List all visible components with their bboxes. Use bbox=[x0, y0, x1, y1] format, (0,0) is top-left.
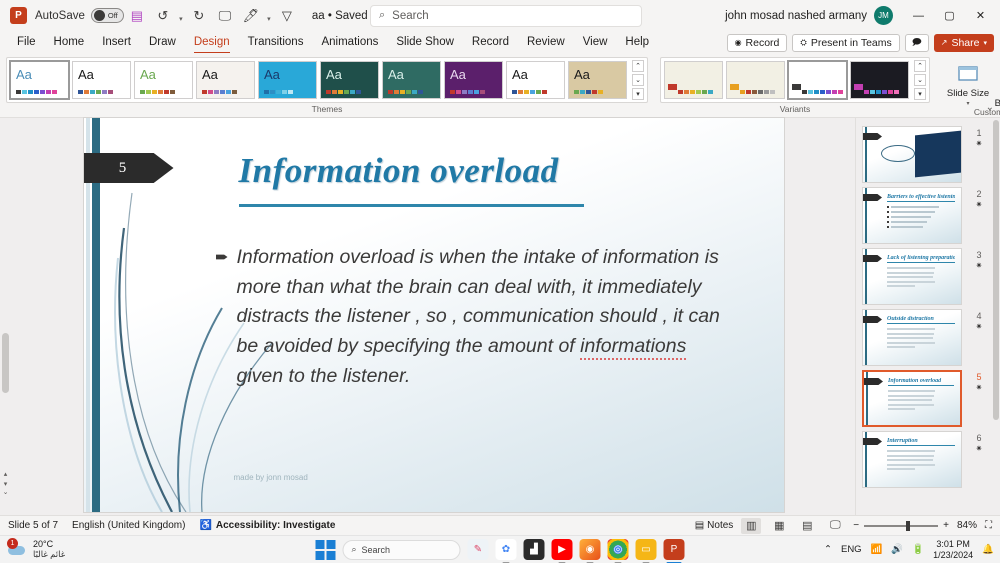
themes-more[interactable]: ▾ bbox=[632, 88, 644, 100]
theme-color-swatches bbox=[574, 90, 603, 94]
google-photos-icon[interactable]: ✿ bbox=[496, 539, 517, 560]
comments-button[interactable]: 🗩 bbox=[905, 34, 929, 52]
tab-draw[interactable]: Draw bbox=[140, 31, 185, 54]
weather-icon: 1 bbox=[6, 540, 28, 558]
firefox-icon[interactable]: ◉ bbox=[580, 539, 601, 560]
user-name: john mosad nashed armany bbox=[725, 10, 867, 22]
body-text-part2: given to the listener. bbox=[237, 365, 411, 387]
zoom-level-label[interactable]: 84% bbox=[957, 520, 977, 531]
powerpoint-window: P AutoSave Off ▤ ↺ ▾ ↻ 🖵 🖊 ▾ ▽ aa • Save… bbox=[0, 0, 1000, 563]
theme-sample-text: Aa bbox=[78, 67, 94, 82]
accessibility-label: Accessibility: Investigate bbox=[216, 520, 336, 531]
themes-gallery-scroll: ⌃⌄▾ bbox=[632, 60, 644, 100]
scroll-down-double-icon[interactable]: ⌄ bbox=[1, 488, 10, 496]
share-button[interactable]: ↗ Share ▾ bbox=[934, 34, 994, 52]
thumbnail-row[interactable]: Barriers to effective listening2✷ bbox=[856, 183, 1000, 244]
thumbnail-title: Information overload bbox=[888, 378, 954, 386]
slide-thumbnail-1[interactable] bbox=[862, 126, 962, 183]
taskbar-search-input[interactable]: ⌕ Search bbox=[343, 540, 461, 560]
slide-thumbnail-3[interactable]: Lack of listening preparation bbox=[862, 248, 962, 305]
thumbnail-dark-panel bbox=[915, 131, 961, 178]
widgets-icon[interactable]: ✎ bbox=[468, 539, 489, 560]
language-indicator[interactable]: ENG bbox=[841, 544, 862, 555]
tab-insert[interactable]: Insert bbox=[93, 31, 140, 54]
previous-slide-button[interactable]: ▴ bbox=[1, 470, 10, 478]
autosave-label: AutoSave bbox=[35, 10, 85, 22]
language-indicator[interactable]: English (United Kingdom) bbox=[72, 520, 185, 531]
search-placeholder: Search bbox=[392, 10, 428, 22]
themes-group: AaAaAaAaAaAaAaAaAaAa⌃⌄▾ Themes bbox=[6, 57, 648, 117]
theme-thumbnail-1[interactable]: Aa bbox=[10, 61, 69, 99]
clock-date: 1/23/2024 bbox=[933, 550, 973, 560]
weather-text: 20°C غائم غالبًا bbox=[33, 539, 65, 559]
variants-gallery[interactable]: ⌃⌄▾ bbox=[660, 57, 930, 103]
windows-app-icon[interactable]: ▟ bbox=[524, 539, 545, 560]
theme-sample-text: Aa bbox=[140, 67, 156, 82]
slide-size-label: Slide Size bbox=[947, 89, 989, 99]
record-dot-icon: ◉ bbox=[735, 38, 742, 47]
variant-color-swatches bbox=[864, 90, 899, 94]
zoom-in-button[interactable]: + bbox=[943, 520, 949, 531]
volume-icon[interactable]: 🔊 bbox=[891, 544, 903, 555]
comments-icon: 🗩 bbox=[912, 35, 922, 51]
slide-thumbnail-4[interactable]: Outside distraction bbox=[862, 309, 962, 366]
themes-scroll-down[interactable]: ⌄ bbox=[632, 74, 644, 86]
tab-home[interactable]: Home bbox=[45, 31, 94, 54]
notes-icon: ▤ bbox=[695, 520, 704, 531]
chrome-icon[interactable]: ◎ bbox=[608, 539, 629, 560]
system-tray: ⌃ ENG 📶 🔊 🔋 3:01 PM 1/23/2024 🔔 bbox=[824, 539, 994, 560]
theme-color-swatches bbox=[326, 90, 361, 94]
start-button-icon[interactable] bbox=[316, 540, 336, 560]
close-button[interactable]: ✕ bbox=[965, 0, 996, 31]
thumbnail-row[interactable]: Lack of listening preparation3✷ bbox=[856, 244, 1000, 305]
zoom-knob[interactable] bbox=[906, 521, 910, 531]
thumbnail-meta: 5✷ bbox=[966, 370, 992, 392]
autosave-state: Off bbox=[108, 11, 118, 20]
theme-sample-text: Aa bbox=[388, 67, 404, 82]
variants-scroll-up[interactable]: ⌃ bbox=[914, 60, 926, 72]
clock[interactable]: 3:01 PM 1/23/2024 bbox=[933, 539, 973, 560]
slide-size-icon bbox=[957, 61, 979, 87]
restore-button[interactable]: ▢ bbox=[934, 0, 965, 31]
ribbon-tab-bar: File Home Insert Draw Design Transitions… bbox=[0, 31, 1000, 54]
thumbnail-content bbox=[887, 450, 956, 473]
slide-editing-area: 5 Information overload Information overl… bbox=[12, 118, 855, 515]
variant-color-swatches bbox=[740, 90, 775, 94]
customize-quick-access-icon[interactable]: ▽ bbox=[274, 4, 300, 28]
thumbnail-number: 3 bbox=[976, 250, 981, 260]
variants-scroll-down[interactable]: ⌄ bbox=[914, 74, 926, 86]
search-input[interactable]: ⌕ Search bbox=[370, 5, 642, 27]
variant-thumbnail-4[interactable] bbox=[850, 61, 909, 99]
thumbnail-meta: 2✷ bbox=[966, 187, 992, 209]
theme-sample-text: Aa bbox=[326, 67, 342, 82]
youtube-icon[interactable]: ▶ bbox=[552, 539, 573, 560]
slide-thumbnail-5[interactable]: Information overload bbox=[862, 370, 962, 427]
zoom-out-button[interactable]: − bbox=[853, 520, 859, 531]
theme-color-swatches bbox=[16, 90, 57, 94]
scrollbar-thumb[interactable] bbox=[2, 333, 9, 393]
record-button[interactable]: ◉ Record bbox=[727, 34, 788, 52]
accessibility-status[interactable]: ♿ Accessibility: Investigate bbox=[199, 520, 335, 531]
theme-color-swatches bbox=[140, 90, 175, 94]
taskbar-apps: ⌕ Search ✎ ✿ ▟ ▶ ◉ ◎ ▭ P bbox=[316, 539, 685, 560]
thumbnail-title-oval bbox=[881, 145, 915, 162]
bullet-arrow-icon bbox=[216, 253, 228, 261]
record-label: Record bbox=[746, 37, 780, 49]
start-presentation-icon[interactable]: 🖵 bbox=[212, 4, 238, 28]
misspelled-word[interactable]: informations bbox=[580, 335, 686, 360]
tab-help[interactable]: Help bbox=[616, 31, 658, 54]
themes-group-label: Themes bbox=[6, 104, 648, 114]
thumbnail-title: Interruption bbox=[887, 438, 955, 446]
variant-color-swatches bbox=[802, 90, 843, 94]
teams-icon: ⛭ bbox=[800, 38, 806, 48]
themes-scroll-up[interactable]: ⌃ bbox=[632, 60, 644, 72]
file-explorer-icon[interactable]: ▭ bbox=[636, 539, 657, 560]
powerpoint-icon[interactable]: P bbox=[664, 539, 685, 560]
thumbnail-row[interactable]: 1✷ bbox=[856, 122, 1000, 183]
share-dropdown-icon[interactable]: ▾ bbox=[983, 39, 987, 47]
designer-star-icon[interactable]: ✷ bbox=[976, 139, 983, 148]
thumbnail-number: 1 bbox=[976, 128, 981, 138]
variant-thumbnail-2[interactable] bbox=[726, 61, 785, 99]
theme-sample-text: Aa bbox=[16, 67, 32, 82]
theme-thumbnail-2[interactable]: Aa bbox=[72, 61, 131, 99]
thumbnail-content bbox=[887, 206, 956, 231]
search-icon: ⌕ bbox=[379, 9, 385, 22]
designer-star-icon[interactable]: ✷ bbox=[976, 444, 983, 453]
thumbnail-meta: 4✷ bbox=[966, 309, 992, 331]
slide-thumbnail-2[interactable]: Barriers to effective listening bbox=[862, 187, 962, 244]
theme-sample-text: Aa bbox=[202, 67, 218, 82]
theme-sample-text: Aa bbox=[574, 67, 590, 82]
windows-taskbar: 1 20°C غائم غالبًا ⌕ Search ✎ ✿ ▟ ▶ ◉ ◎ … bbox=[0, 535, 1000, 563]
notification-bell-icon[interactable]: 🔔 bbox=[982, 544, 994, 555]
avatar[interactable]: JM bbox=[874, 6, 893, 25]
zoom-slider[interactable]: − + bbox=[853, 520, 949, 531]
status-bar: Slide 5 of 7 English (United Kingdom) ♿ … bbox=[0, 515, 1000, 535]
slide-body-text: Information overload is when the intake … bbox=[237, 243, 721, 391]
zoom-track[interactable] bbox=[864, 525, 938, 527]
title-underline bbox=[239, 204, 584, 207]
title-bar: P AutoSave Off ▤ ↺ ▾ ↻ 🖵 🖊 ▾ ▽ aa • Save… bbox=[0, 0, 1000, 31]
notes-label: Notes bbox=[707, 520, 733, 531]
thumbnail-title: Barriers to effective listening bbox=[887, 194, 955, 202]
thumbnail-number: 4 bbox=[976, 311, 981, 321]
workspace: ▴ ▾ ⌄ 5 Information overload bbox=[0, 118, 1000, 515]
fit-to-window-icon[interactable]: ⛶ bbox=[985, 520, 992, 531]
minimize-button[interactable]: — bbox=[903, 0, 934, 31]
theme-color-swatches bbox=[78, 90, 113, 94]
tray-expand-icon[interactable]: ⌃ bbox=[824, 544, 832, 555]
pen-icon[interactable]: 🖊 bbox=[238, 4, 264, 28]
designer-star-icon[interactable]: ✷ bbox=[976, 200, 983, 209]
thumbnail-scrollbar[interactable] bbox=[992, 118, 1000, 515]
thumbnail-content bbox=[887, 328, 956, 351]
tab-review[interactable]: Review bbox=[518, 31, 574, 54]
variants-group: ⌃⌄▾ Variants bbox=[660, 57, 930, 117]
thumbnail-meta: 1✷ bbox=[966, 126, 992, 148]
titlebar-right-group: john mosad nashed armany JM — ▢ ✕ bbox=[725, 0, 996, 31]
undo-dropdown-icon[interactable]: ▾ bbox=[176, 4, 186, 28]
ribbon-actions: ◉ Record ⛭ Present in Teams 🗩 ↗ Share ▾ bbox=[727, 34, 1000, 52]
theme-thumbnail-3[interactable]: Aa bbox=[134, 61, 193, 99]
theme-color-swatches bbox=[512, 90, 547, 94]
designer-star-icon[interactable]: ✷ bbox=[976, 261, 983, 270]
tab-record[interactable]: Record bbox=[463, 31, 518, 54]
thumbnail-content bbox=[887, 267, 956, 290]
weather-widget[interactable]: 1 20°C غائم غالبًا bbox=[6, 539, 65, 559]
notes-button[interactable]: ▤ Notes bbox=[695, 520, 734, 531]
theme-thumbnail-7[interactable]: Aa bbox=[382, 61, 441, 99]
present-in-teams-label: Present in Teams bbox=[811, 37, 892, 49]
variant-accent-block bbox=[792, 84, 801, 90]
slide-sorter-button[interactable]: ▦ bbox=[769, 518, 789, 534]
theme-thumbnail-8[interactable]: Aa bbox=[444, 61, 503, 99]
variants-gallery-scroll: ⌃⌄▾ bbox=[914, 60, 926, 100]
slide-thumbnail-panel[interactable]: 1✷Barriers to effective listening2✷Lack … bbox=[855, 118, 1000, 515]
normal-view-button[interactable]: ▥ bbox=[741, 518, 761, 534]
tab-animations[interactable]: Animations bbox=[312, 31, 387, 54]
thumbnail-number: 6 bbox=[976, 433, 981, 443]
thumbnail-row[interactable]: Interruption6✷ bbox=[856, 427, 1000, 488]
theme-sample-text: Aa bbox=[264, 67, 280, 82]
powerpoint-logo-icon: P bbox=[10, 7, 27, 24]
thumbnail-title: Lack of listening preparation bbox=[887, 255, 955, 263]
pen-dropdown-icon[interactable]: ▾ bbox=[264, 4, 274, 28]
undo-icon[interactable]: ↺ bbox=[150, 4, 176, 28]
share-label: Share bbox=[951, 37, 979, 49]
battery-icon[interactable]: 🔋 bbox=[912, 544, 924, 555]
clock-time: 3:01 PM bbox=[933, 539, 973, 549]
thumbnail-number: 5 bbox=[976, 372, 981, 382]
theme-color-swatches bbox=[388, 90, 423, 94]
theme-thumbnail-5[interactable]: Aa bbox=[258, 61, 317, 99]
accessibility-icon: ♿ bbox=[199, 520, 211, 531]
left-scrollbar[interactable]: ▴ ▾ ⌄ bbox=[0, 118, 12, 515]
tab-view[interactable]: View bbox=[574, 31, 617, 54]
theme-thumbnail-9[interactable]: Aa bbox=[506, 61, 565, 99]
variants-group-label: Variants bbox=[660, 104, 930, 114]
thumbnail-row[interactable]: Outside distraction4✷ bbox=[856, 305, 1000, 366]
thumbnail-meta: 3✷ bbox=[966, 248, 992, 270]
thumbnail-title: Outside distraction bbox=[887, 316, 955, 324]
slide-body-placeholder[interactable]: Information overload is when the intake … bbox=[216, 243, 721, 391]
variants-more[interactable]: ▾ bbox=[914, 88, 926, 100]
variant-accent-block bbox=[854, 84, 863, 90]
theme-thumbnail-6[interactable]: Aa bbox=[320, 61, 379, 99]
toggle-knob bbox=[94, 10, 105, 21]
thumbnail-content bbox=[888, 390, 955, 413]
designer-star-icon[interactable]: ✷ bbox=[976, 322, 983, 331]
thumbnail-row[interactable]: Information overload5✷ bbox=[856, 366, 1000, 427]
status-bar-right: ▤ Notes ▥ ▦ ▤ 🖵 − + 84% ⛶ bbox=[695, 518, 992, 534]
tab-file[interactable]: File bbox=[8, 31, 45, 54]
reading-view-button[interactable]: ▤ bbox=[797, 518, 817, 534]
slide-thumbnail-6[interactable]: Interruption bbox=[862, 431, 962, 488]
variant-thumbnail-1[interactable] bbox=[664, 61, 723, 99]
weather-description: غائم غالبًا bbox=[33, 550, 65, 560]
slide-indicator[interactable]: Slide 5 of 7 bbox=[8, 520, 58, 531]
collapse-ribbon-button[interactable]: ⌄ bbox=[986, 102, 994, 113]
share-icon: ↗ bbox=[941, 38, 948, 47]
tab-slide-show[interactable]: Slide Show bbox=[387, 31, 463, 54]
search-icon: ⌕ bbox=[352, 544, 357, 555]
variant-thumbnail-3[interactable] bbox=[788, 61, 847, 99]
tab-design[interactable]: Design bbox=[185, 31, 239, 54]
ribbon: AaAaAaAaAaAaAaAaAaAa⌃⌄▾ Themes ⌃⌄▾ Varia… bbox=[0, 54, 1000, 118]
save-icon[interactable]: ▤ bbox=[124, 4, 150, 28]
next-slide-button[interactable]: ▾ bbox=[1, 480, 10, 488]
redo-icon[interactable]: ↻ bbox=[186, 4, 212, 28]
theme-color-swatches bbox=[450, 90, 485, 94]
present-in-teams-button[interactable]: ⛭ Present in Teams bbox=[792, 34, 899, 52]
variant-accent-block bbox=[668, 84, 677, 90]
thumbnail-number: 2 bbox=[976, 189, 981, 199]
theme-sample-text: Aa bbox=[512, 67, 528, 82]
designer-star-icon[interactable]: ✷ bbox=[976, 383, 983, 392]
current-slide[interactable]: 5 Information overload Information overl… bbox=[84, 118, 784, 512]
variant-color-swatches bbox=[678, 90, 713, 94]
theme-thumbnail-4[interactable]: Aa bbox=[196, 61, 255, 99]
wifi-icon[interactable]: 📶 bbox=[871, 544, 883, 555]
themes-gallery[interactable]: AaAaAaAaAaAaAaAaAaAa⌃⌄▾ bbox=[6, 57, 648, 103]
thumbnail-meta: 6✷ bbox=[966, 431, 992, 453]
taskbar-search-placeholder: Search bbox=[362, 545, 391, 555]
thumbnail-scrollbar-thumb[interactable] bbox=[993, 120, 999, 420]
slideshow-button[interactable]: 🖵 bbox=[825, 518, 845, 534]
slide-footer-credit: made by jonn mosad bbox=[234, 473, 308, 482]
theme-color-swatches bbox=[264, 90, 293, 94]
autosave-toggle[interactable]: Off bbox=[91, 8, 124, 23]
theme-thumbnail-10[interactable]: Aa bbox=[568, 61, 627, 99]
theme-color-swatches bbox=[202, 90, 237, 94]
slide-title[interactable]: Information overload bbox=[239, 151, 739, 191]
tab-transitions[interactable]: Transitions bbox=[239, 31, 313, 54]
theme-sample-text: Aa bbox=[450, 67, 466, 82]
variant-accent-block bbox=[730, 84, 739, 90]
